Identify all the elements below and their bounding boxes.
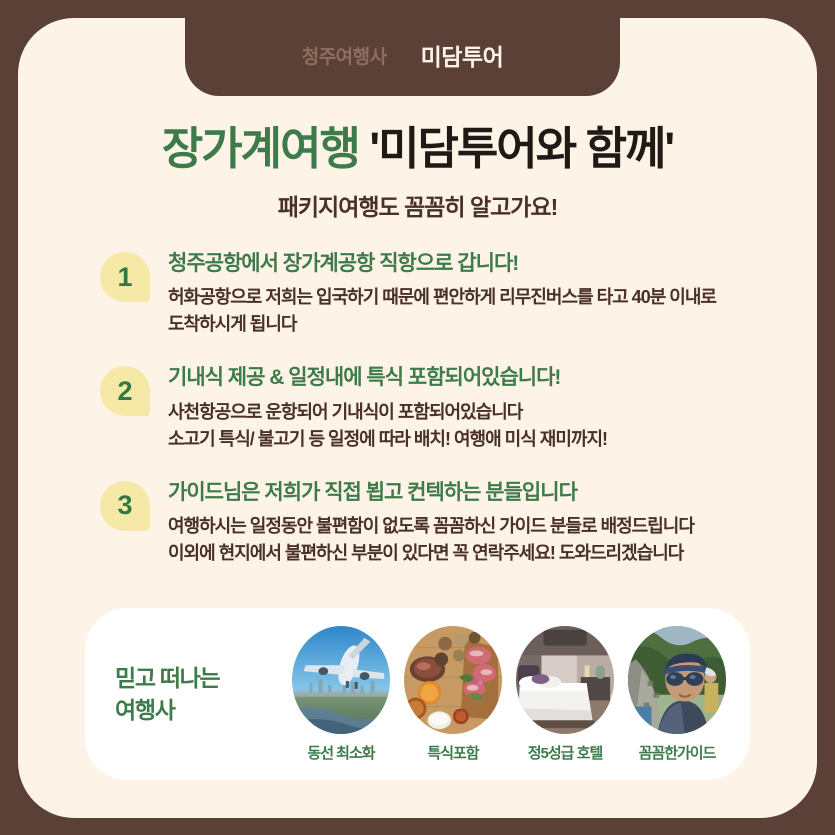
feature-detail-line: 허화공항으로 저희는 입국하기 때문에 편안하게 리무진버스를 타고 40분 이… bbox=[168, 284, 760, 311]
feature-item: 3 가이드님은 저희가 직접 뵙고 컨텍하는 분들입니다 여행하시는 일정동안 … bbox=[100, 479, 760, 567]
feature-heading: 기내식 제공 & 일정내에 특식 포함되어있습니다! bbox=[168, 364, 760, 392]
trust-item: 특식포함 bbox=[397, 626, 509, 763]
page-title: 장가계여행 '미담투어와 함께' bbox=[0, 124, 835, 174]
feature-detail-line: 소고기 특식/ 불고기 등 일정에 따라 배치! 여행애 미식 재미까지! bbox=[168, 426, 760, 453]
airplane-over-city-photo bbox=[292, 626, 390, 734]
brand-header-tab: 청주여행사 미담투어 bbox=[185, 0, 620, 96]
feature-number-badge: 1 bbox=[100, 252, 150, 302]
trust-item: 동선 최소화 bbox=[285, 626, 397, 763]
feature-item: 2 기내식 제공 & 일정내에 특식 포함되어있습니다! 사천항공으로 운항되어… bbox=[100, 364, 760, 452]
feature-detail-line: 이외에 현지에서 불편하신 부분이 있다면 꼭 연락주세요! 도와드리겠습니다 bbox=[168, 540, 760, 567]
trust-card-title: 믿고 떠나는 여행사 bbox=[115, 662, 285, 726]
feature-heading: 청주공항에서 장가계공항 직항으로 갑니다! bbox=[168, 250, 760, 278]
feature-list: 1 청주공항에서 장가계공항 직항으로 갑니다! 허화공항으로 저희는 입국하기… bbox=[100, 250, 760, 593]
poster-background: 청주여행사 미담투어 장가계여행 '미담투어와 함께' 패키지여행도 꼼꼼히 알… bbox=[0, 0, 835, 835]
feature-detail-line: 사천항공으로 운항되어 기내식이 포함되어있습니다 bbox=[168, 399, 760, 426]
brand-primary-label: 미담투어 bbox=[421, 24, 504, 72]
trust-item-caption: 정5성급 호텔 bbox=[509, 742, 621, 763]
trust-title-line-1: 믿고 떠나는 bbox=[115, 662, 285, 694]
trust-item-caption: 꼼꼼한가이드 bbox=[621, 742, 733, 763]
title-block: 장가계여행 '미담투어와 함께' 패키지여행도 꼼꼼히 알고가요! bbox=[0, 124, 835, 222]
feature-detail-line: 여행하시는 일정동안 불편함이 없도록 꼼꼼하신 가이드 분들로 배정드립니다 bbox=[168, 513, 760, 540]
title-brand-phrase: '미담투어와 함께' bbox=[369, 123, 673, 174]
page-subtitle: 패키지여행도 꼼꼼히 알고가요! bbox=[0, 188, 835, 222]
trust-title-line-2: 여행사 bbox=[115, 694, 285, 726]
trust-item-caption: 동선 최소화 bbox=[285, 742, 397, 763]
tour-guide-portrait-photo bbox=[628, 626, 726, 734]
feature-heading: 가이드님은 저희가 직접 뵙고 컨텍하는 분들입니다 bbox=[168, 479, 760, 507]
hotel-bedroom-photo bbox=[516, 626, 614, 734]
feature-detail-line: 도착하시게 됩니다 bbox=[168, 311, 760, 338]
trust-item: 꼼꼼한가이드 bbox=[621, 626, 733, 763]
trust-item-caption: 특식포함 bbox=[397, 742, 509, 763]
feature-number-badge: 3 bbox=[100, 481, 150, 531]
brand-secondary-label: 청주여행사 bbox=[302, 28, 387, 69]
trust-item: 정5성급 호텔 bbox=[509, 626, 621, 763]
trust-item-list: 동선 최소화 bbox=[285, 626, 737, 763]
feature-number-badge: 2 bbox=[100, 366, 150, 416]
trust-card: 믿고 떠나는 여행사 bbox=[85, 608, 750, 780]
feature-item: 1 청주공항에서 장가계공항 직항으로 갑니다! 허화공항으로 저희는 입국하기… bbox=[100, 250, 760, 338]
korean-food-spread-photo bbox=[404, 626, 502, 734]
title-destination: 장가계여행 bbox=[162, 123, 359, 174]
